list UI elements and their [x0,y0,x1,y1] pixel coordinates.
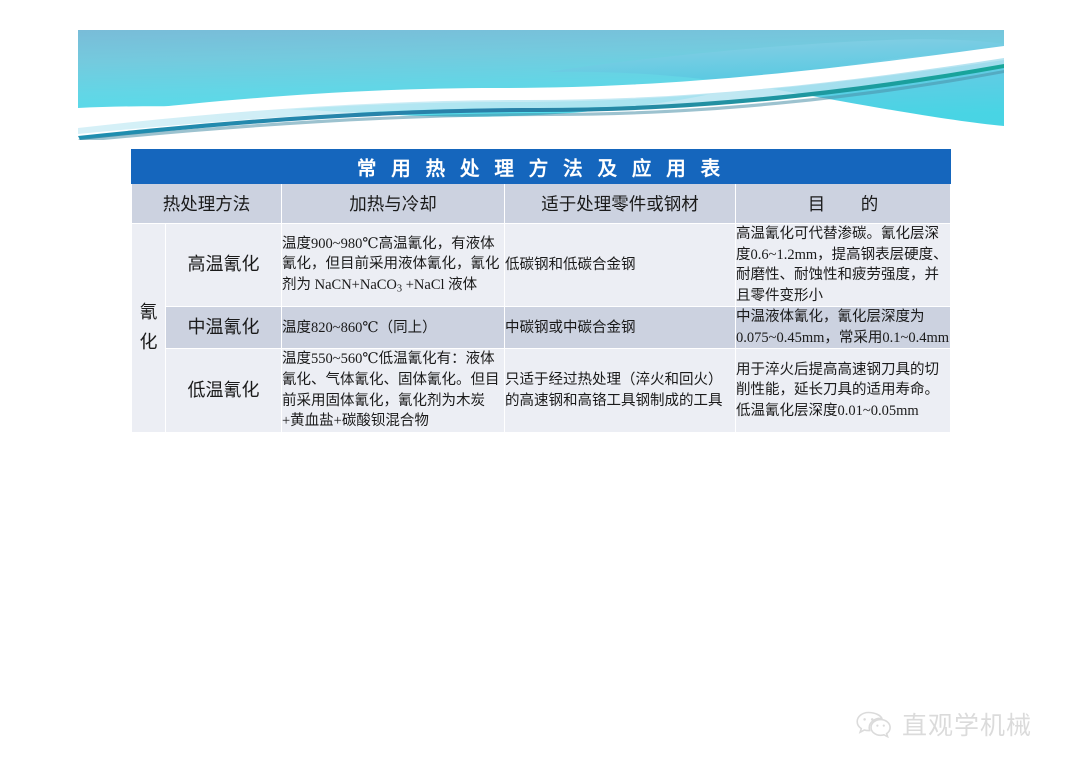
cell-heating-2: 温度820~860℃（同上） [282,307,505,349]
cell-heating-1: 温度900~980℃高温氰化，有液体氰化，但目前采用液体氰化，氰化剂为 NaCN… [282,224,505,307]
row-group-label-text: 氰化 [132,298,165,357]
cell-heating-1-formula: NaCN+NaCO3 +NaCl 液体 [315,277,478,293]
table-row: 中温氰化 温度820~860℃（同上） 中碳钢或中碳合金钢 中温液体氰化，氰化层… [132,307,951,349]
table-row: 氰化 高温氰化 温度900~980℃高温氰化，有液体氰化，但目前采用液体氰化，氰… [132,224,951,307]
slide-canvas: 常 用 热 处 理 方 法 及 应 用 表 热处理方法 加热与冷却 适于处理零件… [0,0,1080,764]
cell-suitable-3: 只适于经过热处理（淬火和回火）的高速钢和高铬工具钢制成的工具 [505,349,736,432]
table-header-row: 热处理方法 加热与冷却 适于处理零件或钢材 目 的 [132,184,951,224]
watermark-text: 直观学机械 [902,706,1032,742]
cell-suitable-1: 低碳钢和低碳合金钢 [505,224,736,307]
watermark: 直观学机械 [855,703,1055,745]
cell-method-2: 中温氰化 [166,307,282,349]
heat-treatment-table-container: 常 用 热 处 理 方 法 及 应 用 表 热处理方法 加热与冷却 适于处理零件… [131,149,950,433]
cell-method-1: 高温氰化 [166,224,282,307]
header-wave-svg [78,30,1004,140]
cell-suitable-2: 中碳钢或中碳合金钢 [505,307,736,349]
column-header-purpose: 目 的 [736,184,951,224]
column-header-method: 热处理方法 [132,184,282,224]
cell-purpose-2: 中温液体氰化，氰化层深度为0.075~0.45mm，常采用0.1~0.4mm [736,307,951,349]
wechat-bubbles-icon [855,710,893,738]
row-group-label-cyanidation: 氰化 [132,224,166,433]
heat-treatment-table: 常 用 热 处 理 方 法 及 应 用 表 热处理方法 加热与冷却 适于处理零件… [131,149,951,433]
header-wave-decoration [78,30,1004,140]
table-title: 常 用 热 处 理 方 法 及 应 用 表 [132,150,951,184]
cell-method-3: 低温氰化 [166,349,282,432]
column-header-heating: 加热与冷却 [282,184,505,224]
cell-heating-3: 温度550~560℃低温氰化有：液体氰化、气体氰化、固体氰化。但目前采用固体氰化… [282,349,505,432]
column-header-suitable: 适于处理零件或钢材 [505,184,736,224]
table-row: 低温氰化 温度550~560℃低温氰化有：液体氰化、气体氰化、固体氰化。但目前采… [132,349,951,432]
cell-purpose-3: 用于淬火后提高高速钢刀具的切削性能，延长刀具的适用寿命。低温氰化层深度0.01~… [736,349,951,432]
table-title-row: 常 用 热 处 理 方 法 及 应 用 表 [132,150,951,184]
cell-purpose-1: 高温氰化可代替渗碳。氰化层深度0.6~1.2mm，提高钢表层硬度、耐磨性、耐蚀性… [736,224,951,307]
